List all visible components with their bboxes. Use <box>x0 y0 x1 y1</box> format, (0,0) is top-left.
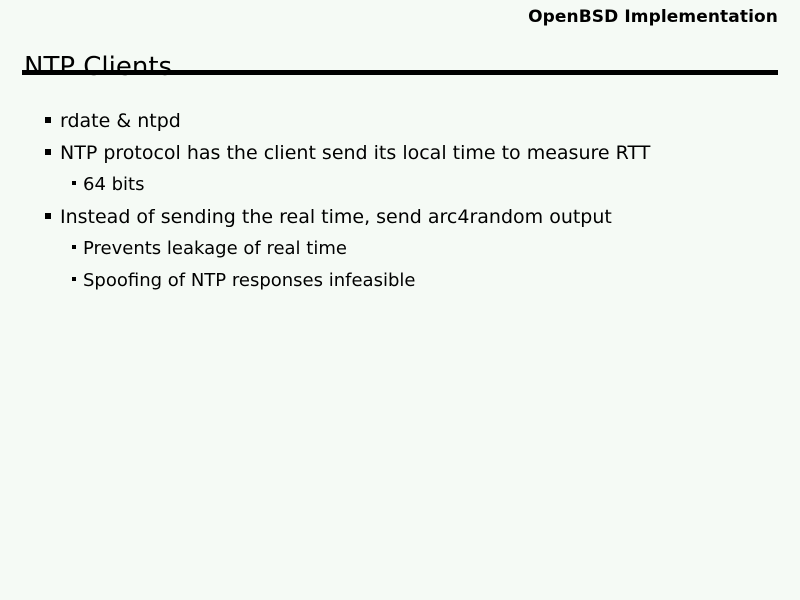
list-item-label: rdate & ntpd <box>60 106 181 136</box>
square-bullet-icon <box>45 213 51 219</box>
bullet-list: rdate & ntpd NTP protocol has the client… <box>0 106 800 298</box>
square-bullet-icon <box>45 117 51 123</box>
page-title: NTP Clients <box>24 53 172 83</box>
list-item-label: Instead of sending the real time, send a… <box>60 202 612 232</box>
list-item: NTP protocol has the client send its loc… <box>0 138 800 168</box>
square-bullet-icon <box>72 245 76 249</box>
presentation-slide: OpenBSD Implementation NTP Clients rdate… <box>0 0 800 600</box>
square-bullet-icon <box>72 181 76 185</box>
list-item-label: Prevents leakage of real time <box>83 234 347 264</box>
square-bullet-icon <box>72 277 76 281</box>
list-item-label: 64 bits <box>83 170 145 200</box>
list-item: Spoofing of NTP responses infeasible <box>0 266 800 296</box>
list-item: rdate & ntpd <box>0 106 800 136</box>
list-item: 64 bits <box>0 170 800 200</box>
square-bullet-icon <box>45 149 51 155</box>
title-divider <box>22 70 778 75</box>
list-item: Prevents leakage of real time <box>0 234 800 264</box>
list-item-label: NTP protocol has the client send its loc… <box>60 138 650 168</box>
list-item-label: Spoofing of NTP responses infeasible <box>83 266 415 296</box>
slide-header-text: OpenBSD Implementation <box>22 7 778 27</box>
list-item: Instead of sending the real time, send a… <box>0 202 800 232</box>
